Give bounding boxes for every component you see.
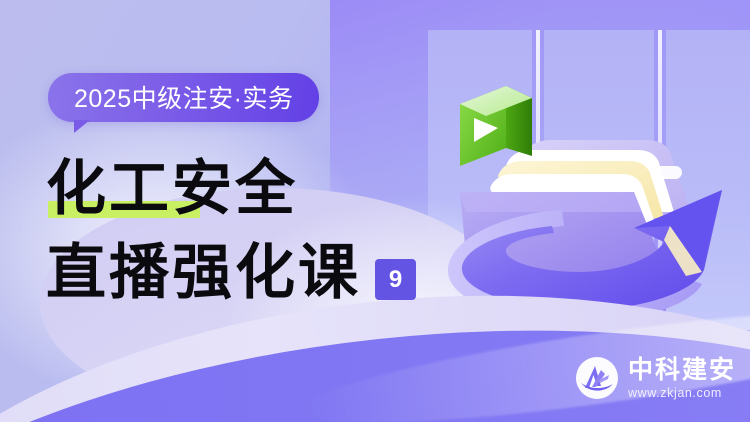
title-row-1: 化工安全 (46, 150, 476, 222)
course-banner: 2025中级注安·实务 化工安全 直播强化课 9 中科建安 www.zkjan.… (0, 0, 750, 422)
zkjan-circle-mark-icon (575, 356, 619, 400)
course-tag: 2025中级注安·实务 (48, 73, 319, 122)
course-tag-label: 2025中级注安·实务 (48, 73, 319, 122)
title-block: 化工安全 直播强化课 9 (46, 150, 476, 306)
brand-logo: 中科建安 www.zkjan.com (575, 356, 736, 400)
course-tag-tail (74, 120, 90, 133)
brand-logo-text: 中科建安 www.zkjan.com (628, 357, 736, 400)
episode-badge: 9 (375, 259, 416, 300)
headline-line-1: 化工安全 (46, 156, 298, 222)
headline-line-2: 直播强化课 (46, 240, 361, 306)
brand-name: 中科建安 (628, 357, 736, 382)
brand-url: www.zkjan.com (628, 387, 736, 400)
title-row-2: 直播强化课 9 (46, 234, 476, 306)
